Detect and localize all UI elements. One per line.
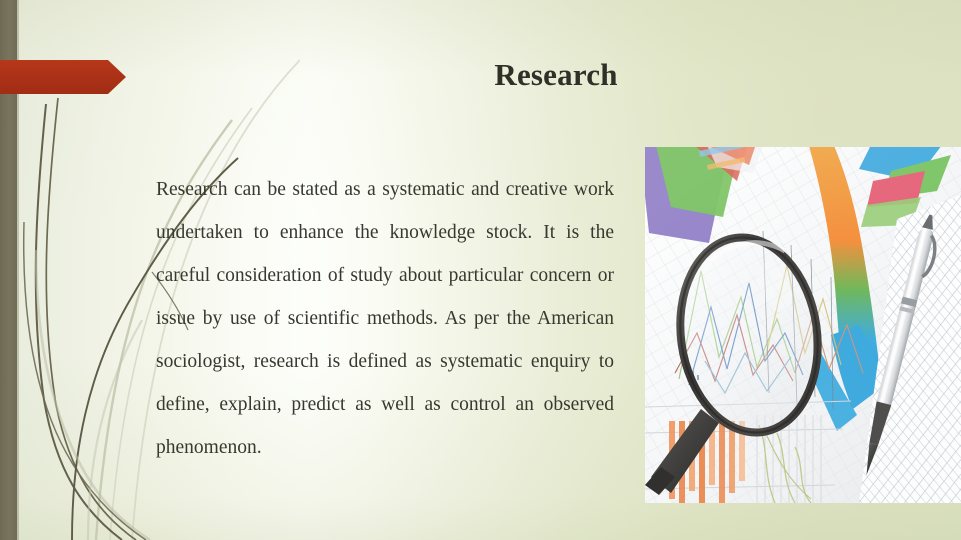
slide-body-paragraph: Research can be stated as a systematic a… — [156, 168, 614, 469]
red-arrow-banner — [0, 60, 126, 94]
presentation-slide: Research Research can be stated as a sys… — [0, 0, 961, 540]
page-title: Research — [156, 55, 956, 95]
research-photo — [645, 147, 961, 503]
